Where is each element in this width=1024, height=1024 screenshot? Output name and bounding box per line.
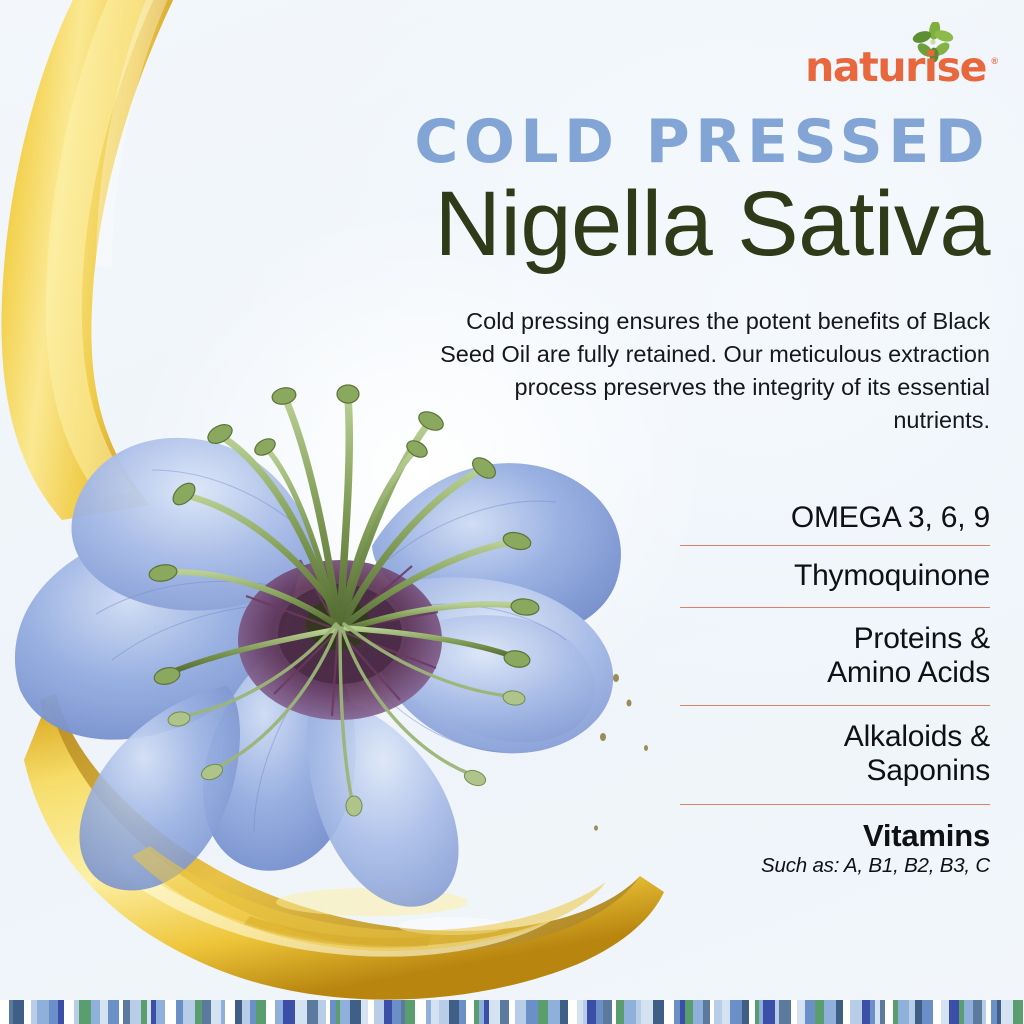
stripe-segment bbox=[964, 1000, 973, 1024]
stripe-segment bbox=[235, 1000, 242, 1024]
stripe-segment bbox=[714, 1000, 722, 1024]
stripe-segment bbox=[616, 1000, 624, 1024]
registered-trademark-icon: ® bbox=[991, 56, 998, 66]
stripe-segment bbox=[922, 1000, 933, 1024]
stripe-segment bbox=[898, 1000, 909, 1024]
list-item: Thymoquinone bbox=[680, 546, 990, 609]
stripe-segment bbox=[843, 1000, 850, 1024]
stripe-segment bbox=[941, 1000, 949, 1024]
stripe-segment bbox=[431, 1000, 439, 1024]
kicker-heading: COLD PRESSED bbox=[0, 112, 990, 172]
stripe-segment bbox=[538, 1000, 548, 1024]
stripe-segment bbox=[91, 1000, 100, 1024]
stripe-segment bbox=[156, 1000, 165, 1024]
stripe-segment bbox=[283, 1000, 295, 1024]
stripe-segment bbox=[664, 1000, 674, 1024]
stripe-segment bbox=[805, 1000, 815, 1024]
brand-logo[interactable]: naturise ® bbox=[810, 22, 1000, 92]
nutrient-label: Thymoquinone bbox=[680, 546, 990, 608]
logo-wordmark: naturise bbox=[805, 47, 986, 88]
stripe-segment bbox=[1001, 1000, 1013, 1024]
stripe-segment bbox=[797, 1000, 805, 1024]
stripe-segment bbox=[653, 1000, 664, 1024]
nutrient-sublabel: Such as: A, B1, B2, B3, C bbox=[680, 854, 990, 879]
stripe-segment bbox=[307, 1000, 318, 1024]
stripe-segment bbox=[415, 1000, 426, 1024]
stripe-segment bbox=[824, 1000, 836, 1024]
stripe-segment bbox=[1013, 1000, 1023, 1024]
stripe-segment bbox=[560, 1000, 568, 1024]
list-item: Alkaloids & Saponins bbox=[680, 706, 990, 804]
stripe-segment bbox=[225, 1000, 235, 1024]
stripe-segment bbox=[202, 1000, 211, 1024]
stripe-segment bbox=[459, 1000, 466, 1024]
stripe-segment bbox=[466, 1000, 474, 1024]
stripe-segment bbox=[885, 1000, 893, 1024]
nutrient-list: OMEGA 3, 6, 9 Thymoquinone Proteins & Am… bbox=[680, 495, 990, 879]
stripe-segment bbox=[49, 1000, 58, 1024]
stripe-segment bbox=[340, 1000, 350, 1024]
stripe-segment bbox=[123, 1000, 130, 1024]
stripe-segment bbox=[176, 1000, 183, 1024]
stripe-segment bbox=[318, 1000, 326, 1024]
stripe-segment bbox=[405, 1000, 415, 1024]
stripe-segment bbox=[100, 1000, 108, 1024]
stripe-segment bbox=[256, 1000, 266, 1024]
stripe-segment bbox=[266, 1000, 275, 1024]
stripe-segment bbox=[548, 1000, 560, 1024]
stripe-segment bbox=[915, 1000, 922, 1024]
stripe-segment bbox=[392, 1000, 401, 1024]
stripe-segment bbox=[526, 1000, 538, 1024]
stripe-segment bbox=[703, 1000, 710, 1024]
stripe-segment bbox=[949, 1000, 959, 1024]
stripe-segment bbox=[862, 1000, 870, 1024]
list-item: Vitamins Such as: A, B1, B2, B3, C bbox=[680, 805, 990, 879]
stripe-segment bbox=[361, 1000, 368, 1024]
stripe-segment bbox=[449, 1000, 459, 1024]
stripe-segment bbox=[489, 1000, 500, 1024]
stripe-segment bbox=[515, 1000, 526, 1024]
stripe-segment bbox=[722, 1000, 730, 1024]
stripe-segment bbox=[64, 1000, 74, 1024]
stripe-segment bbox=[568, 1000, 577, 1024]
stripe-segment bbox=[603, 1000, 612, 1024]
nutrient-label: OMEGA 3, 6, 9 bbox=[680, 495, 990, 545]
stripe-segment bbox=[500, 1000, 509, 1024]
nutrient-label: Vitamins bbox=[680, 805, 990, 854]
stripe-segment bbox=[693, 1000, 703, 1024]
stripe-segment bbox=[275, 1000, 283, 1024]
stripe-segment bbox=[763, 1000, 775, 1024]
stripe-segment bbox=[973, 1000, 982, 1024]
stripe-segment bbox=[439, 1000, 449, 1024]
stripe-segment bbox=[165, 1000, 176, 1024]
nutrient-label: Proteins & Amino Acids bbox=[680, 608, 990, 705]
list-item: Proteins & Amino Acids bbox=[680, 608, 990, 706]
stripe-segment bbox=[183, 1000, 195, 1024]
stripe-segment bbox=[685, 1000, 693, 1024]
stripe-segment bbox=[0, 1000, 9, 1024]
stripe-segment bbox=[742, 1000, 749, 1024]
stripe-segment bbox=[641, 1000, 653, 1024]
stripe-segment bbox=[350, 1000, 361, 1024]
stripe-segment bbox=[242, 1000, 250, 1024]
page-title: Nigella Sativa bbox=[0, 178, 990, 272]
stripe-segment bbox=[596, 1000, 603, 1024]
stripe-segment bbox=[850, 1000, 862, 1024]
stripe-segment bbox=[836, 1000, 843, 1024]
stripe-segment bbox=[37, 1000, 49, 1024]
footer-stripe-bar bbox=[0, 1000, 1024, 1024]
stripe-segment bbox=[295, 1000, 307, 1024]
stripe-segment bbox=[730, 1000, 742, 1024]
nutrient-label: Alkaloids & Saponins bbox=[680, 706, 990, 803]
stripe-segment bbox=[384, 1000, 392, 1024]
stripe-segment bbox=[587, 1000, 596, 1024]
stripe-segment bbox=[374, 1000, 384, 1024]
stripe-segment bbox=[108, 1000, 119, 1024]
stripe-segment bbox=[624, 1000, 636, 1024]
stripe-segment bbox=[13, 1000, 24, 1024]
stripe-segment bbox=[130, 1000, 141, 1024]
stripe-segment bbox=[79, 1000, 91, 1024]
list-item: OMEGA 3, 6, 9 bbox=[680, 495, 990, 546]
stripe-segment bbox=[211, 1000, 221, 1024]
stripe-segment bbox=[24, 1000, 31, 1024]
stripe-segment bbox=[933, 1000, 941, 1024]
stripe-segment bbox=[815, 1000, 824, 1024]
stripe-segment bbox=[195, 1000, 202, 1024]
stripe-segment bbox=[779, 1000, 791, 1024]
description-paragraph: Cold pressing ensures the potent benefit… bbox=[420, 305, 990, 438]
poster-canvas: naturise ® COLD PRESSED Nigella Sativa C… bbox=[0, 0, 1024, 1024]
